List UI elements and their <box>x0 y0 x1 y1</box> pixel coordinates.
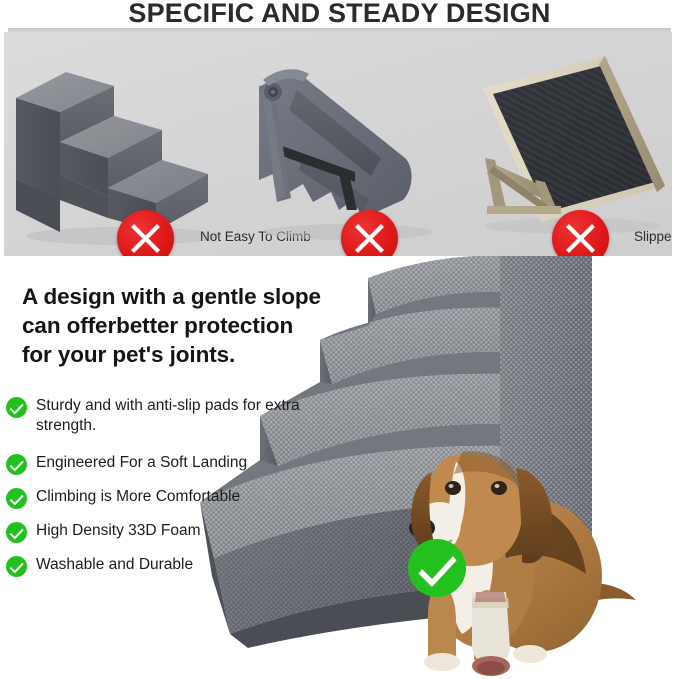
headline-line-3: for your pet's joints. <box>22 340 352 369</box>
check-circle-icon <box>6 556 27 577</box>
comparison-item-plastic-folding-stairs: Slippery Easy To Fall <box>229 32 447 256</box>
feature-item: High Density 33D Foam <box>6 521 336 544</box>
red-x-icon-1 <box>117 210 174 256</box>
feature-item: Sturdy and with anti-slip pads for extra… <box>6 396 336 436</box>
feature-label: Engineered For a Soft Landing <box>36 453 336 473</box>
headline-line-1: A design with a gentle slope <box>22 282 352 311</box>
page-title: SPECIFIC AND STEADY DESIGN <box>0 0 679 28</box>
red-x-icon-3 <box>552 210 609 256</box>
feature-label: Climbing is More Comfortable <box>36 487 336 507</box>
promo-panel: A design with a gentle slope can offerbe… <box>0 256 679 679</box>
feature-item: Engineered For a Soft Landing <box>6 453 336 476</box>
feature-list: Sturdy and with anti-slip pads for extra… <box>6 396 336 589</box>
check-circle-icon <box>6 397 27 418</box>
page-header: SPECIFIC AND STEADY DESIGN <box>0 0 679 32</box>
green-check-icon <box>408 539 466 597</box>
check-circle-icon <box>6 454 27 475</box>
headline-line-2: can offerbetter protection <box>22 311 352 340</box>
check-circle-icon <box>6 488 27 509</box>
comparison-panel: Not Easy To Climb <box>4 32 672 256</box>
red-x-icon-2 <box>341 210 398 256</box>
feature-label: Sturdy and with anti-slip pads for extra… <box>36 396 336 436</box>
feature-label: High Density 33D Foam <box>36 521 336 541</box>
feature-item: Climbing is More Comfortable <box>6 487 336 510</box>
promo-headline: A design with a gentle slope can offerbe… <box>22 282 352 369</box>
feature-item: Washable and Durable <box>6 555 336 578</box>
feature-label: Washable and Durable <box>36 555 336 575</box>
check-circle-icon <box>6 522 27 543</box>
